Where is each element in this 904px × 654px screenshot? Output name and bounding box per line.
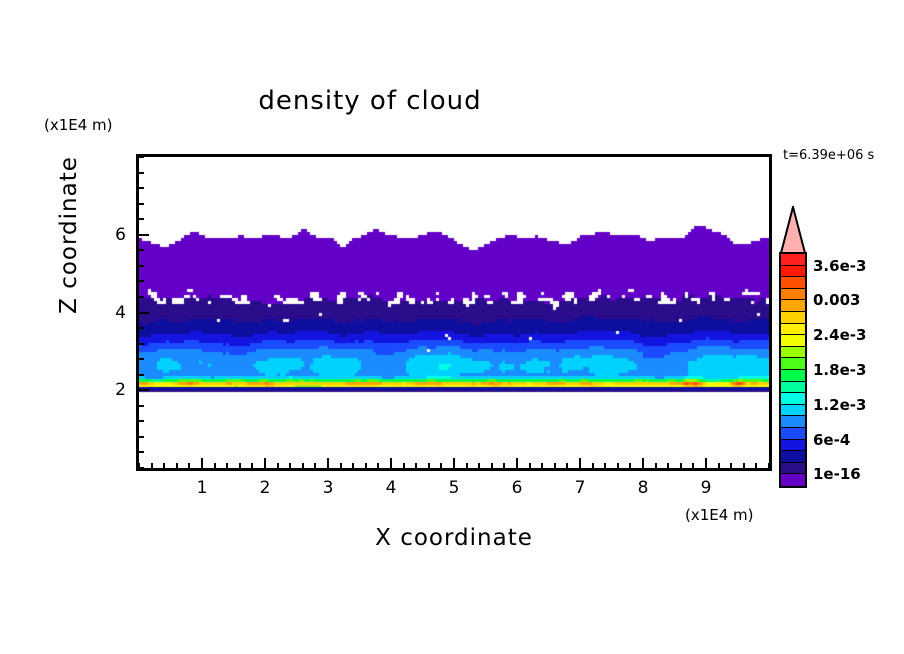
colorbar-segment [781,277,805,289]
x-tick-minor [428,463,430,468]
colorbar-tick-label: 3.6e-3 [813,257,866,275]
y-tick-minor [139,405,144,407]
y-tick-minor [139,436,144,438]
y-tick-minor [139,172,144,174]
colorbar-gradient [779,252,807,488]
x-tick-minor [163,463,165,468]
x-tick-minor [302,463,304,468]
x-tick-label: 4 [386,478,397,498]
x-tick-minor [340,463,342,468]
x-tick-minor [718,463,720,468]
x-tick-minor [768,463,770,468]
colorbar-segment [781,382,805,394]
x-tick-minor [415,463,417,468]
y-tick-minor [139,327,144,329]
colorbar-tick-label: 2.4e-3 [813,326,866,344]
x-tick-minor [592,463,594,468]
x-tick-minor [188,463,190,468]
x-tick-minor [440,463,442,468]
y-tick-minor [139,296,144,298]
colorbar-tick-label: 6e-4 [813,431,850,449]
y-tick-minor [139,218,144,220]
y-tick-minor [139,156,144,158]
x-tick-minor [629,463,631,468]
y-tick-label: 6 [94,225,126,245]
x-axis-unit-label: (x1E4 m) [685,506,754,524]
x-tick-minor [251,463,253,468]
y-tick-minor [139,187,144,189]
y-tick-major [139,234,149,236]
x-tick-minor [352,463,354,468]
x-tick-minor [554,463,556,468]
figure-canvas: density of cloud (x1E4 m) t=6.39e+06 s Z… [0,0,904,654]
x-tick-minor [365,463,367,468]
x-tick-minor [277,463,279,468]
x-tick-minor [151,463,153,468]
colorbar-segment [781,393,805,405]
x-tick-minor [541,463,543,468]
x-tick-major [453,458,455,468]
colorbar-segment [781,324,805,336]
colorbar-segment [781,370,805,382]
y-tick-label: 2 [94,380,126,400]
x-tick-minor [730,463,732,468]
x-tick-minor [680,463,682,468]
x-tick-minor [314,463,316,468]
x-tick-minor [755,463,757,468]
y-tick-minor [139,420,144,422]
y-tick-minor [139,280,144,282]
x-tick-major [201,458,203,468]
x-tick-major [264,458,266,468]
y-tick-minor [139,374,144,376]
x-axis-title: X coordinate [136,525,772,551]
x-tick-major [516,458,518,468]
colorbar-tick-label: 1e-16 [813,465,861,483]
x-tick-minor [491,463,493,468]
y-tick-minor [139,467,144,469]
x-tick-major [579,458,581,468]
x-tick-label: 7 [575,478,586,498]
x-tick-label: 3 [323,478,334,498]
x-tick-major [390,458,392,468]
colorbar-segment [781,463,805,475]
x-tick-major [642,458,644,468]
colorbar-segment [781,312,805,324]
colorbar-tick-label: 0.003 [813,291,860,309]
colorbar-segment [781,405,805,417]
x-tick-minor [176,463,178,468]
x-tick-label: 8 [638,478,649,498]
x-tick-label: 5 [449,478,460,498]
colorbar-segment [781,300,805,312]
y-tick-minor [139,249,144,251]
colorbar-segment [781,428,805,440]
colorbar[interactable] [779,206,807,488]
colorbar-segment [781,440,805,452]
x-tick-label: 2 [260,478,271,498]
x-tick-minor [466,463,468,468]
y-tick-minor [139,203,144,205]
colorbar-tick-label: 1.8e-3 [813,361,866,379]
x-tick-minor [655,463,657,468]
x-tick-minor [743,463,745,468]
x-tick-minor [529,463,531,468]
x-tick-minor [239,463,241,468]
x-tick-major [327,458,329,468]
plot-area[interactable] [136,154,772,471]
y-tick-minor [139,451,144,453]
y-tick-minor [139,343,144,345]
x-tick-label: 6 [512,478,523,498]
colorbar-segment [781,358,805,370]
x-tick-major [705,458,707,468]
y-tick-label: 4 [94,303,126,323]
time-annotation: t=6.39e+06 s [783,148,874,163]
x-tick-minor [403,463,405,468]
x-tick-label: 1 [197,478,208,498]
contour-field [139,157,769,468]
x-tick-minor [692,463,694,468]
colorbar-segment [781,266,805,278]
x-tick-minor [289,463,291,468]
colorbar-tick-label: 1.2e-3 [813,396,866,414]
x-tick-minor [566,463,568,468]
colorbar-segment [781,254,805,266]
y-axis-unit-label: (x1E4 m) [44,116,113,134]
x-tick-minor [214,463,216,468]
colorbar-extend-arrow-icon [779,206,807,254]
x-tick-minor [617,463,619,468]
colorbar-segment [781,335,805,347]
y-tick-minor [139,358,144,360]
colorbar-segment [781,289,805,301]
y-tick-minor [139,265,144,267]
y-axis-title: Z coordinate [56,140,82,330]
x-tick-minor [478,463,480,468]
colorbar-segment [781,416,805,428]
x-tick-minor [377,463,379,468]
colorbar-segment [781,451,805,463]
x-tick-minor [604,463,606,468]
colorbar-segment [781,474,805,486]
colorbar-segment [781,347,805,359]
x-tick-minor [226,463,228,468]
x-tick-minor [667,463,669,468]
page-title: density of cloud [0,86,740,116]
x-tick-minor [503,463,505,468]
x-tick-label: 9 [701,478,712,498]
y-tick-major [139,312,149,314]
y-tick-major [139,389,149,391]
